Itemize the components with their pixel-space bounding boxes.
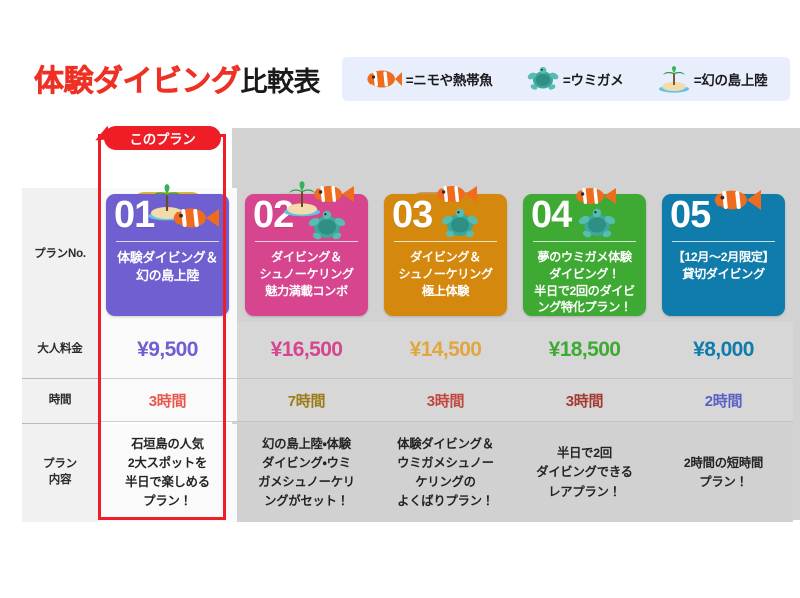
plan-card-04[interactable]: 04 xyxy=(523,194,646,316)
row-header-adult-price: 大人料金 xyxy=(22,322,98,378)
plan-cell-01[interactable]: 人気No.1 01 xyxy=(98,188,237,322)
duration-cell-04: 3時間 xyxy=(515,378,654,422)
comparison-table: プランNo. 人気No.1 01 xyxy=(22,188,800,522)
plan-number-03: 03 xyxy=(392,196,432,234)
row-header-description-line2: 内容 xyxy=(43,473,77,489)
table-row-plan: プランNo. 人気No.1 01 xyxy=(22,188,800,322)
price-value-02: ¥16,500 xyxy=(271,338,343,362)
duration-value-03: 3時間 xyxy=(427,390,464,411)
plan-card-05[interactable]: 05 【12月～2月限定】 xyxy=(662,194,785,316)
page-title-highlight: 体験ダイビング xyxy=(34,56,241,100)
page-title: 体験ダイビング 比較表 xyxy=(34,56,320,100)
price-cell-01: ¥9,500 xyxy=(98,322,237,378)
plan-cell-04[interactable]: 04 xyxy=(515,188,654,322)
plan-title-05: 【12月～2月限定】 貸切ダイビング xyxy=(666,249,781,283)
duration-value-01: 3時間 xyxy=(149,390,186,411)
description-cell-02: 幻の島上陸・体験ダイビング・ウミガメシュノーケリングがセット！ xyxy=(237,424,376,522)
legend-item-island: =幻の島上陸 xyxy=(657,65,768,93)
plan-title-04-line1: 夢のウミガメ体験 xyxy=(527,249,642,266)
description-cell-03: 体験ダイビング＆ウミガメシュノーケリングのよくばりプラン！ xyxy=(376,424,515,522)
price-cell-05: ¥8,000 xyxy=(654,322,793,378)
duration-cell-03: 3時間 xyxy=(376,378,515,422)
legend-label-sea-turtle: =ウミガメ xyxy=(563,69,623,89)
plan-title-04: 夢のウミガメ体験 ダイビング！ 半日で2回のダイビ ング特化プラン！ xyxy=(527,249,642,316)
legend-label-island: =幻の島上陸 xyxy=(694,69,768,89)
legend-label-clownfish: =ニモや熱帯魚 xyxy=(406,69,493,89)
plan-card-divider-05 xyxy=(672,241,775,242)
price-value-05: ¥8,000 xyxy=(693,338,754,362)
plan-title-04-line3: 半日で2回のダイビ xyxy=(527,283,642,300)
page-title-suffix: 比較表 xyxy=(241,60,321,99)
description-value-04: 半日で2回ダイビングできるレアプラン！ xyxy=(530,444,639,501)
description-value-02: 幻の島上陸・体験ダイビング・ウミガメシュノーケリングがセット！ xyxy=(252,435,361,511)
description-cell-01: 石垣島の人気2大スポットを半日で楽しめるプラン！ xyxy=(98,424,237,522)
description-value-03: 体験ダイビング＆ウミガメシュノーケリングのよくばりプラン！ xyxy=(391,435,500,511)
plan-card-divider-03 xyxy=(394,241,497,242)
plan-title-02-line2: シュノーケリング xyxy=(249,266,364,283)
plan-cell-03[interactable]: 人気No.3 03 xyxy=(376,188,515,322)
duration-value-02: 7時間 xyxy=(288,390,325,411)
icon-legend: =ニモや熱帯魚 =ウミガメ xyxy=(342,57,790,101)
plan-card-03[interactable]: 03 xyxy=(384,194,507,316)
legend-item-clownfish: =ニモや熱帯魚 xyxy=(365,66,493,92)
plan-title-04-line4: ング特化プラン！ xyxy=(527,299,642,316)
this-plan-banner: このプラン xyxy=(104,126,221,150)
plan-card-divider-02 xyxy=(255,241,358,242)
plan-card-02[interactable]: 02 xyxy=(245,194,368,316)
plan-number-05: 05 xyxy=(670,196,710,234)
price-value-04: ¥18,500 xyxy=(549,338,621,362)
plan-title-03: ダイビング＆ シュノーケリング 極上体験 xyxy=(388,249,503,299)
price-cell-02: ¥16,500 xyxy=(237,322,376,378)
plan-card-divider-01 xyxy=(116,241,219,242)
row-header-duration: 時間 xyxy=(22,378,98,424)
row-header-description: プラン 内容 xyxy=(22,424,98,522)
plan-title-05-line1: 【12月～2月限定】 xyxy=(666,249,781,266)
table-row-price: 大人料金 ¥9,500 ¥16,500 ¥14,500 ¥18,500 ¥8,0… xyxy=(22,322,800,378)
plan-cell-02[interactable]: 人気No.2 02 xyxy=(237,188,376,322)
plan-cell-05[interactable]: 05 【12月～2月限定】 xyxy=(654,188,793,322)
description-value-01: 石垣島の人気2大スポットを半日で楽しめるプラン！ xyxy=(119,435,216,511)
table-row-description: プラン 内容 石垣島の人気2大スポットを半日で楽しめるプラン！ 幻の島上陸・体験… xyxy=(22,424,800,522)
plan-title-03-line1: ダイビング＆ xyxy=(388,249,503,266)
duration-cell-05: 2時間 xyxy=(654,378,793,422)
sea-turtle-icon xyxy=(526,66,560,92)
price-value-03: ¥14,500 xyxy=(410,338,482,362)
table-row-duration: 時間 3時間 7時間 3時間 3時間 2時間 xyxy=(22,378,800,424)
description-cell-05: 2時間の短時間プラン！ xyxy=(654,424,793,522)
plan-title-02: ダイビング＆ シュノーケリング 魅力満載コンボ xyxy=(249,249,364,299)
duration-cell-01: 3時間 xyxy=(98,378,237,422)
description-cell-04: 半日で2回ダイビングできるレアプラン！ xyxy=(515,424,654,522)
description-value-05: 2時間の短時間プラン！ xyxy=(678,454,769,492)
plan-title-01: 体験ダイビング＆ 幻の島上陸 xyxy=(110,249,225,286)
clownfish-icon xyxy=(365,66,403,92)
legend-item-sea-turtle: =ウミガメ xyxy=(526,66,623,92)
plan-number-01: 01 xyxy=(114,196,154,234)
plan-card-01[interactable]: 01 xyxy=(106,194,229,316)
plan-number-04: 04 xyxy=(531,196,571,234)
duration-value-04: 3時間 xyxy=(566,390,603,411)
duration-value-05: 2時間 xyxy=(705,390,742,411)
plan-title-01-line1: 体験ダイビング＆ xyxy=(110,249,225,267)
price-value-01: ¥9,500 xyxy=(137,338,198,362)
price-cell-03: ¥14,500 xyxy=(376,322,515,378)
plan-title-05-line2: 貸切ダイビング xyxy=(666,266,781,283)
plan-title-02-line1: ダイビング＆ xyxy=(249,249,364,266)
row-header-description-line1: プラン xyxy=(43,457,77,473)
plan-title-04-line2: ダイビング！ xyxy=(527,266,642,283)
plan-title-03-line3: 極上体験 xyxy=(388,283,503,300)
price-cell-04: ¥18,500 xyxy=(515,322,654,378)
plan-card-divider-04 xyxy=(533,241,636,242)
plan-title-01-line2: 幻の島上陸 xyxy=(110,267,225,285)
plan-title-02-line3: 魅力満載コンボ xyxy=(249,283,364,300)
page-header: 体験ダイビング 比較表 =ニモや熱帯魚 xyxy=(0,56,800,112)
row-header-plan-no: プランNo. xyxy=(22,188,98,322)
island-icon xyxy=(657,65,691,93)
plan-number-02: 02 xyxy=(253,196,293,234)
plan-title-03-line2: シュノーケリング xyxy=(388,266,503,283)
duration-cell-02: 7時間 xyxy=(237,378,376,422)
